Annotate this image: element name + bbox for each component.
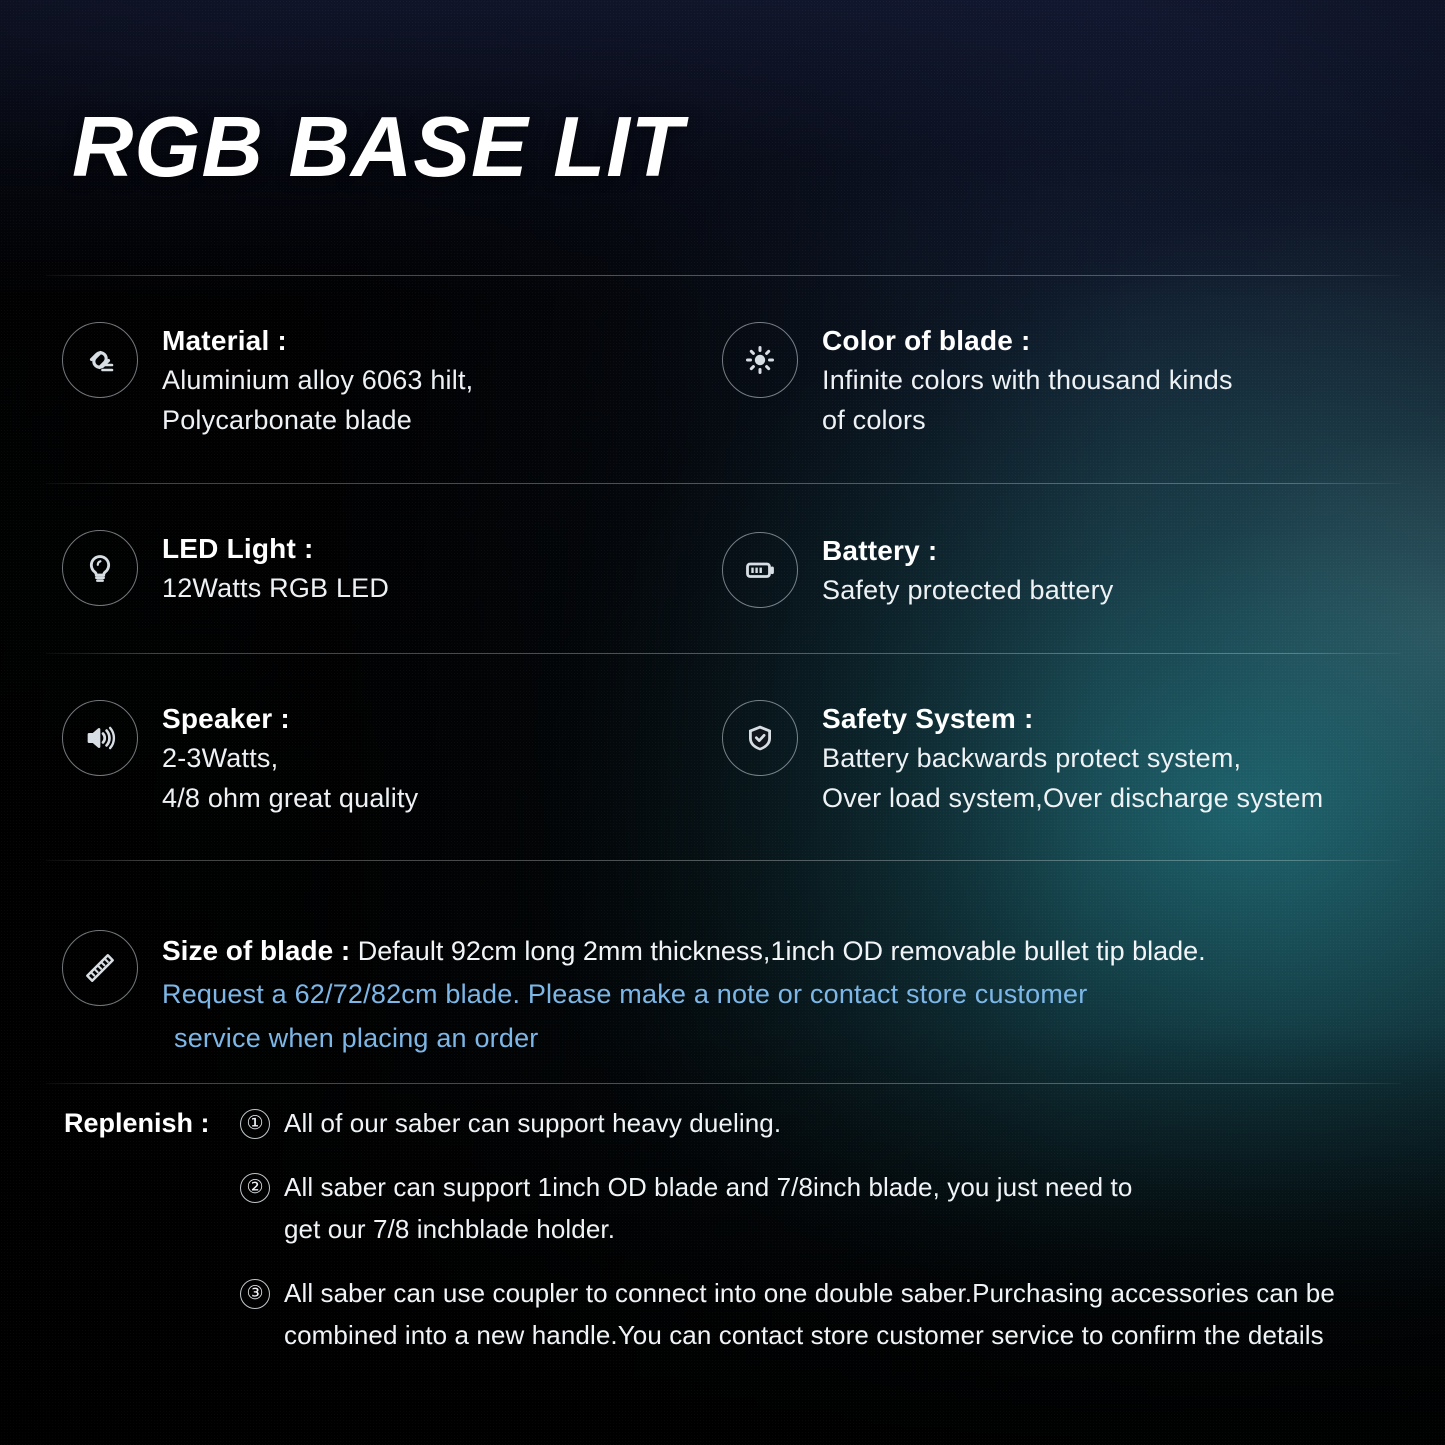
spec-value-line: of colors	[822, 400, 1233, 440]
spec-item-size-of-blade: Size of blade : Default 92cm long 2mm th…	[62, 930, 1206, 1060]
magnet-link-icon	[62, 322, 138, 398]
spec-value-line: Over load system,Over discharge system	[822, 778, 1323, 818]
speaker-icon	[62, 700, 138, 776]
infographic-page: RGB BASE LIT Material : Aluminium alloy …	[0, 0, 1445, 1445]
page-title: RGB BASE LIT	[72, 100, 684, 196]
spec-label: LED Light :	[162, 530, 389, 568]
list-item-line: All saber can support 1inch OD blade and…	[284, 1166, 1424, 1208]
divider-3	[46, 653, 1401, 654]
list-item-number: ①	[240, 1109, 270, 1139]
spec-value-line: 2-3Watts,	[162, 738, 418, 778]
spec-value-line: 4/8 ohm great quality	[162, 778, 418, 818]
list-item: ② All saber can support 1inch OD blade a…	[240, 1166, 1424, 1250]
spec-item-material: Material : Aluminium alloy 6063 hilt, Po…	[62, 322, 473, 440]
spec-label: Safety System :	[822, 700, 1323, 738]
spec-item-safety-system: Safety System : Battery backwards protec…	[722, 700, 1323, 818]
brightness-sun-icon	[722, 322, 798, 398]
size-of-blade-label: Size of blade :	[162, 935, 350, 966]
divider-2	[46, 483, 1401, 484]
spec-item-led-light: LED Light : 12Watts RGB LED	[62, 530, 389, 608]
lightbulb-icon	[62, 530, 138, 606]
list-item: ① All of our saber can support heavy due…	[240, 1102, 1424, 1144]
list-item: ③ All saber can use coupler to connect i…	[240, 1272, 1424, 1356]
list-item-line: combined into a new handle.You can conta…	[284, 1314, 1424, 1356]
spec-label: Battery :	[822, 532, 1113, 570]
list-item-line: All of our saber can support heavy dueli…	[284, 1102, 1424, 1144]
spec-label: Material :	[162, 322, 473, 360]
spec-value-line: Aluminium alloy 6063 hilt,	[162, 360, 473, 400]
replenish-section: Replenish : ① All of our saber can suppo…	[64, 1102, 1424, 1356]
ruler-icon	[62, 930, 138, 1006]
spec-item-battery: Battery : Safety protected battery	[722, 532, 1113, 610]
divider-4	[46, 860, 1401, 861]
spec-value-line: Battery backwards protect system,	[822, 738, 1323, 778]
size-of-blade-value: Default 92cm long 2mm thickness,1inch OD…	[358, 936, 1206, 966]
spec-item-speaker: Speaker : 2-3Watts, 4/8 ohm great qualit…	[62, 700, 418, 818]
size-of-blade-line: Size of blade : Default 92cm long 2mm th…	[162, 930, 1206, 972]
battery-icon	[722, 532, 798, 608]
spec-value-line: Safety protected battery	[822, 570, 1113, 610]
list-item-number: ②	[240, 1173, 270, 1203]
divider-1	[46, 275, 1401, 276]
shield-check-icon	[722, 700, 798, 776]
spec-item-color-of-blade: Color of blade : Infinite colors with th…	[722, 322, 1233, 440]
list-item-line: get our 7/8 inchblade holder.	[284, 1208, 1424, 1250]
size-of-blade-note-line-2: service when placing an order	[162, 1016, 1206, 1060]
list-item-line: All saber can use coupler to connect int…	[284, 1272, 1424, 1314]
list-item-number: ③	[240, 1279, 270, 1309]
spec-value-line: Polycarbonate blade	[162, 400, 473, 440]
spec-label: Color of blade :	[822, 322, 1233, 360]
size-of-blade-note-line-1: Request a 62/72/82cm blade. Please make …	[162, 972, 1206, 1016]
divider-5	[46, 1083, 1401, 1084]
spec-value-line: 12Watts RGB LED	[162, 568, 389, 608]
spec-label: Speaker :	[162, 700, 418, 738]
spec-value-line: Infinite colors with thousand kinds	[822, 360, 1233, 400]
replenish-title: Replenish :	[64, 1102, 240, 1144]
